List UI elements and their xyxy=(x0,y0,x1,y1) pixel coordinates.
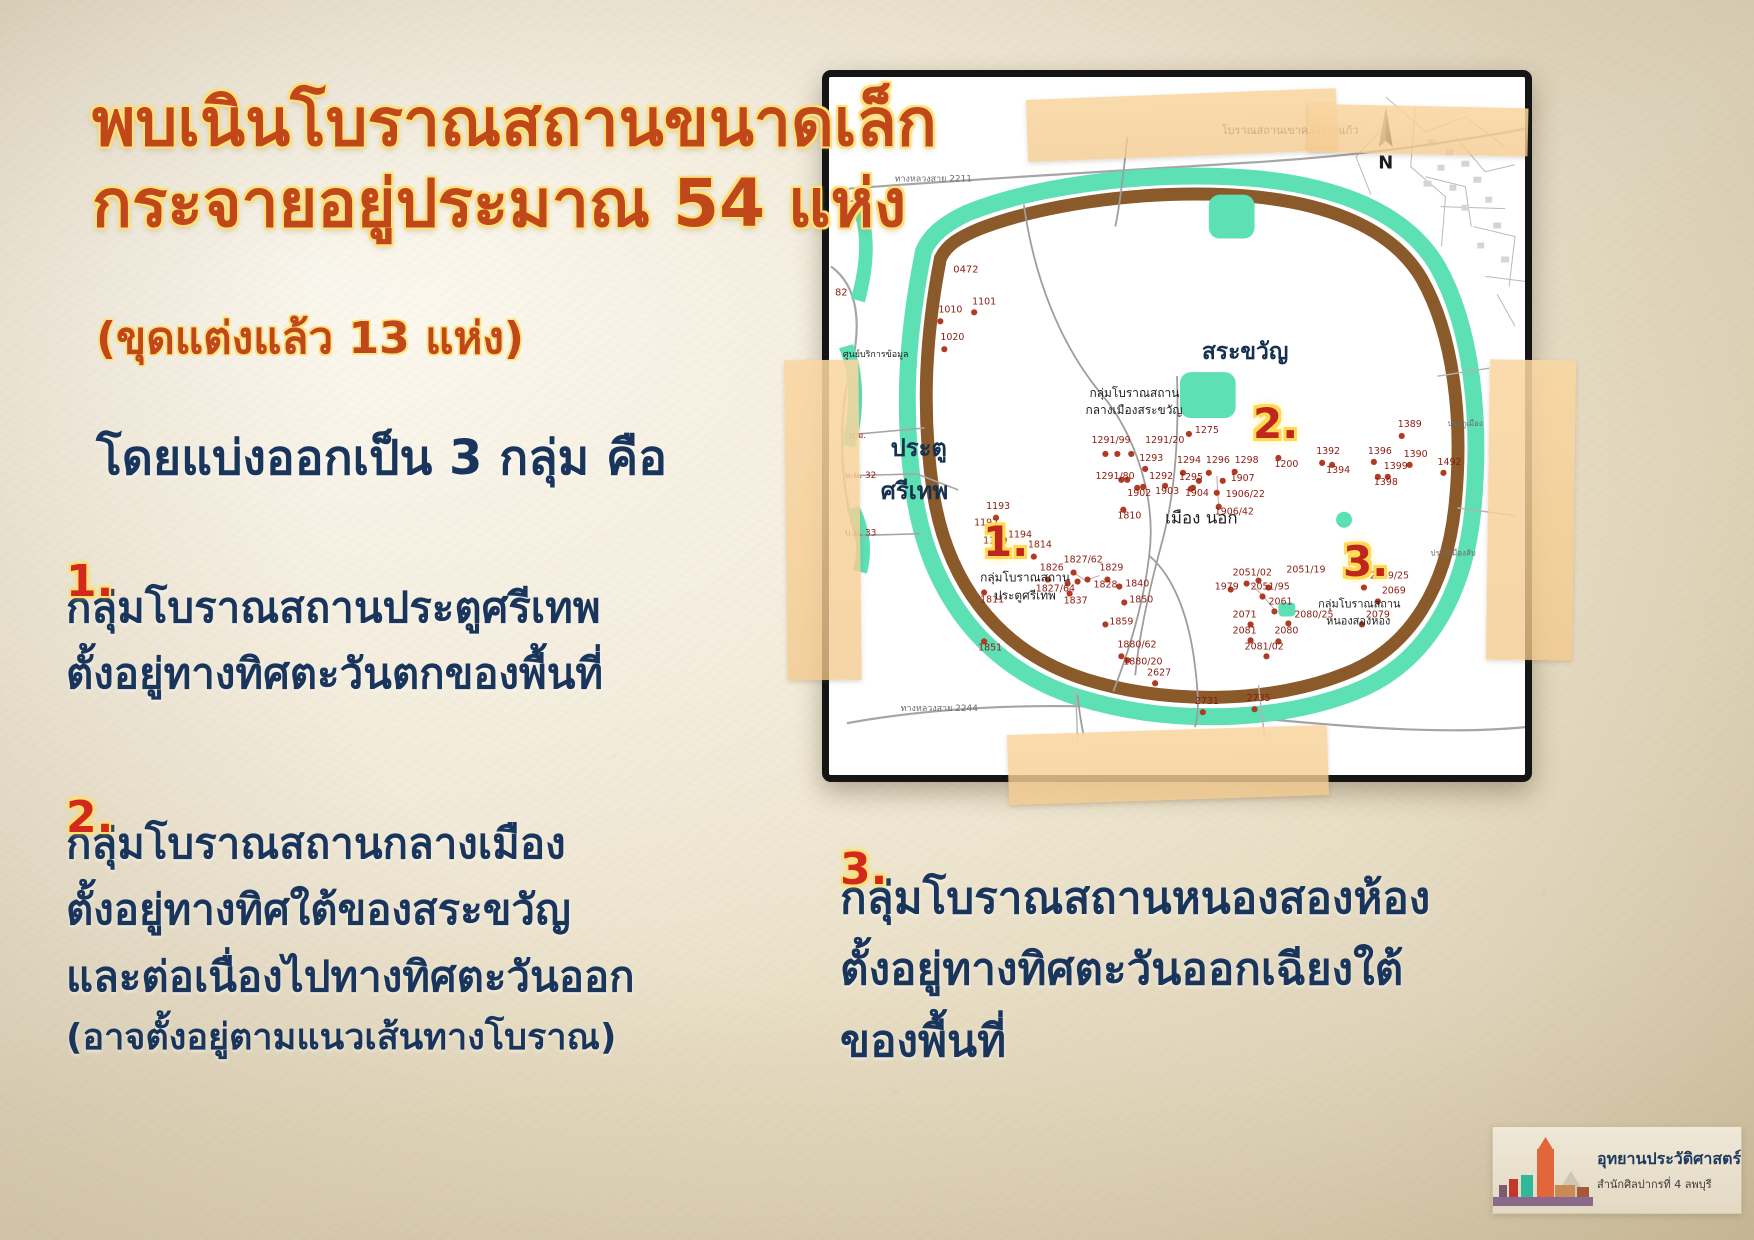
map-site-id: 1492 xyxy=(1438,457,1462,468)
map-site-id: 1101 xyxy=(972,296,996,307)
map-site-id: 1200 xyxy=(1274,459,1298,470)
group-item-1: 1. กลุ่มโบราณสถานประตูศรีเทพ ตั้งอยู่ทาง… xyxy=(66,556,603,708)
map-site-id: 1810 xyxy=(1117,511,1141,522)
map-site-dot xyxy=(1121,599,1127,605)
group-3-body: กลุ่มโบราณสถานหนองสองห้อง ตั้งอยู่ทางทิศ… xyxy=(840,863,1430,1077)
map-site-dot xyxy=(1214,490,1220,496)
logo-monument-icon xyxy=(1493,1127,1593,1214)
map-site-dot xyxy=(1142,466,1148,472)
group-2-line-2: ตั้งอยู่ทางทิศใต้ของสระขวัญ xyxy=(66,877,635,943)
map-site-id: 2051/02 xyxy=(1233,568,1272,579)
map-site-id: 1020 xyxy=(940,332,964,343)
group-2-line-1: กลุ่มโบราณสถานกลางเมือง xyxy=(66,811,635,877)
map-site-id: 1193 xyxy=(986,501,1010,512)
map-site-id: 2061 xyxy=(1268,596,1292,607)
map-site-dot xyxy=(1074,578,1080,584)
map-site-dot xyxy=(971,309,977,315)
map-badge-2: 2. xyxy=(1253,399,1298,448)
map-site-id: 1291/99 xyxy=(1091,435,1130,446)
map-site-id: 2731 xyxy=(1195,696,1219,707)
map-site-dot xyxy=(1128,451,1134,457)
map-site-dot xyxy=(937,318,943,324)
map-area-label: ประตูเมืองลับ xyxy=(1431,549,1476,559)
group-2-body: กลุ่มโบราณสถานกลางเมือง ตั้งอยู่ทางทิศใต… xyxy=(66,811,635,1067)
map-site-id: 1293 xyxy=(1139,453,1163,464)
map-area-label: 82 xyxy=(835,287,848,298)
map-site-id: 1979 xyxy=(1215,582,1239,593)
map-site-id: 1392 xyxy=(1316,446,1340,457)
map-site-id: 1291/80 xyxy=(1095,471,1134,482)
map-site-id: 2071 xyxy=(1233,609,1257,620)
slide-subtitle: (ขุดแต่งแล้ว 13 แห่ง) xyxy=(96,303,524,373)
map-site-dot xyxy=(1251,706,1257,712)
park-logo: อุทยานประวัติศาสตร์ศรีเทพ สำนักศิลปากรที… xyxy=(1492,1126,1742,1214)
map-site-dot xyxy=(1319,460,1325,466)
map-site-id: 1880/62 xyxy=(1117,639,1156,650)
map-area-label: สระขวัญ xyxy=(1202,339,1288,365)
map-area-label: ประตูศรีเทพ xyxy=(994,588,1056,603)
map-site-id: 2051/95 xyxy=(1251,582,1290,593)
map-site-dot xyxy=(941,346,947,352)
map-site-id: 1010 xyxy=(938,304,962,315)
map-area-label: กลางเมืองสระขวัญ xyxy=(1086,403,1183,417)
map-site-id: 1399 xyxy=(1384,461,1408,472)
map-badge-3: 3. xyxy=(1343,537,1388,586)
map-area-label: หนองสองหอง xyxy=(1326,614,1390,627)
map-site-id: 1904 xyxy=(1185,488,1209,499)
title-line-2: กระจายอยู่ประมาณ 54 แห่ง xyxy=(92,163,992,244)
map-site-id: 2081/02 xyxy=(1245,641,1284,652)
map-site-id: 1275 xyxy=(1195,425,1219,436)
group-3-line-3: ของพื้นที่ xyxy=(840,1006,1430,1077)
map-site-id: 1828 xyxy=(1093,580,1117,591)
map-site-id: 1903 xyxy=(1155,486,1179,497)
logo-text: อุทยานประวัติศาสตร์ศรีเทพ สำนักศิลปากรที… xyxy=(1597,1147,1742,1193)
map-area-label: ศรีเทพ xyxy=(881,477,949,505)
map-site-id: 1907 xyxy=(1231,473,1255,484)
group-2-line-3: และต่อเนื่องไปทางทิศตะวันออก xyxy=(66,944,635,1010)
group-item-3: 3. กลุ่มโบราณสถานหนองสองห้อง ตั้งอยู่ทาง… xyxy=(840,844,1430,1077)
map-site-dot xyxy=(1220,478,1226,484)
map-site-id: 1906/22 xyxy=(1226,489,1265,500)
map-site-id: 1291/20 xyxy=(1145,435,1184,446)
map-site-id: 1829 xyxy=(1099,563,1123,574)
logo-department: สำนักศิลปากรที่ 4 ลพบุรี xyxy=(1597,1175,1742,1193)
tape-strip-left xyxy=(784,360,861,681)
group-item-2: 2. กลุ่มโบราณสถานกลางเมือง ตั้งอยู่ทางทิ… xyxy=(66,792,635,1067)
tape-strip-right xyxy=(1486,359,1576,660)
map-site-id: 1398 xyxy=(1374,477,1398,488)
map-area-label: กลุ่มโบราณสถาน xyxy=(1090,386,1180,400)
map-site-id: 1840 xyxy=(1125,579,1149,590)
map-site-id: 2080 xyxy=(1274,625,1298,636)
map-site-id: 1837 xyxy=(1064,595,1088,606)
map-site-dot xyxy=(1186,431,1192,437)
tape-strip-top-right xyxy=(1308,104,1529,157)
group-3-number: 3. xyxy=(840,844,887,895)
group-3-line-1: กลุ่มโบราณสถานหนองสองห้อง xyxy=(840,863,1430,934)
map-badge-1: 1. xyxy=(983,517,1028,566)
logo-name: อุทยานประวัติศาสตร์ศรีเทพ xyxy=(1597,1147,1742,1172)
map-area-label: ทางหลวงสาย 2244 xyxy=(901,704,979,714)
map-site-id: 1814 xyxy=(1028,540,1052,551)
map-site-dot xyxy=(1371,459,1377,465)
map-site-id: 1294 xyxy=(1177,455,1201,466)
map-site-dot xyxy=(1206,470,1212,476)
map-site-dot xyxy=(1031,554,1037,560)
svg-text:N: N xyxy=(1378,153,1393,174)
title-line-1: พบเนินโบราณสถานขนาดเล็ก xyxy=(92,82,992,163)
map-site-id: 1394 xyxy=(1326,465,1350,476)
map-site-dot xyxy=(1152,680,1158,686)
map-site-id: 1389 xyxy=(1398,419,1422,430)
map-site-id: 1850 xyxy=(1129,594,1153,605)
tape-strip-top-left xyxy=(1026,88,1338,162)
map-site-id: 1827/62 xyxy=(1064,555,1103,566)
map-site-dot xyxy=(1200,709,1206,715)
map-site-id: 1396 xyxy=(1368,446,1392,457)
map-site-dot xyxy=(1102,621,1108,627)
map-site-dot xyxy=(1084,576,1090,582)
map-site-dot xyxy=(1440,470,1446,476)
map-site-id: 1902 xyxy=(1127,488,1151,499)
map-area-label: กลุ่มโบราณสถาน xyxy=(980,571,1070,585)
map-site-dot xyxy=(1399,433,1405,439)
map-site-id: 2051/19 xyxy=(1286,565,1325,576)
slide-lead-text: โดยแบ่งออกเป็น 3 กลุ่ม คือ xyxy=(96,420,667,496)
map-site-id: 2627 xyxy=(1147,667,1171,678)
map-area-label: ศูนย์บริการข้อมูล xyxy=(843,348,909,360)
group-1-line-1: กลุ่มโบราณสถานประตูศรีเทพ xyxy=(66,575,603,641)
tape-strip-bottom xyxy=(1007,725,1329,805)
map-site-dot xyxy=(1071,569,1077,575)
map-area-label: เมือง นอก xyxy=(1165,508,1238,528)
slide-title: พบเนินโบราณสถานขนาดเล็ก กระจายอยู่ประมาณ… xyxy=(92,82,992,244)
group-1-number: 1. xyxy=(66,556,113,607)
map-site-id: 1295 xyxy=(1179,472,1203,483)
map-site-dot xyxy=(1114,451,1120,457)
group-1-line-2: ตั้งอยู่ทางทิศตะวันตกของพื้นที่ xyxy=(66,641,603,707)
group-2-number: 2. xyxy=(66,792,113,843)
group-3-line-2: ตั้งอยู่ทางทิศตะวันออกเฉียงใต้ xyxy=(840,934,1430,1005)
map-site-id: 1296 xyxy=(1206,455,1230,466)
map-area-label: กลุ่มโบราณสถาน xyxy=(1318,597,1401,610)
map-site-dot xyxy=(1244,580,1250,586)
map-site-id: 1859 xyxy=(1109,616,1133,627)
map-site-id: 2735 xyxy=(1247,693,1271,704)
group-2-note: (อาจตั้งอยู่ตามแนวเส้นทางโบราณ) xyxy=(66,1010,635,1067)
group-1-body: กลุ่มโบราณสถานประตูศรีเทพ ตั้งอยู่ทางทิศ… xyxy=(66,575,603,708)
map-site-id: 2081 xyxy=(1233,625,1257,636)
map-site-id: 2069 xyxy=(1382,586,1406,597)
map-site-dot xyxy=(1102,451,1108,457)
map-area-label: 0472 xyxy=(953,264,978,275)
map-area-label: ประตู xyxy=(891,434,947,463)
map-site-id: 1292 xyxy=(1149,471,1173,482)
map-site-dot xyxy=(1263,653,1269,659)
map-site-id: 1851 xyxy=(978,642,1002,653)
map-site-dot xyxy=(1259,593,1265,599)
map-site-dot xyxy=(1271,608,1277,614)
map-site-id: 1298 xyxy=(1235,455,1259,466)
map-area-label: ประตูเมือง xyxy=(1447,419,1482,429)
map-site-id: 1880/20 xyxy=(1123,656,1162,667)
map-site-id: 1390 xyxy=(1404,449,1428,460)
